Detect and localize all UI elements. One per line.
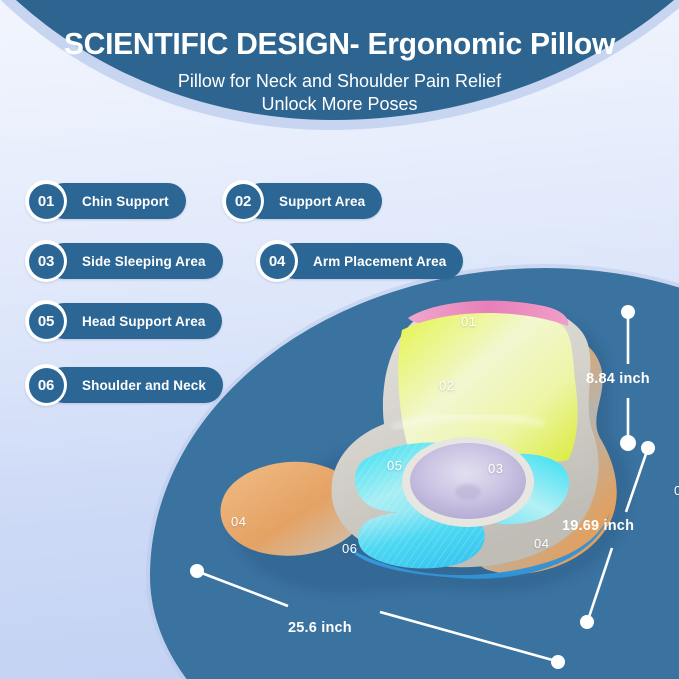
- dim-width-line-left: [199, 572, 288, 606]
- dimension-label-height: 8.84 inch: [586, 371, 650, 387]
- dim-width-endpoint-left: [190, 564, 204, 578]
- dimension-callouts: 8.84 inch 19.69 inch 25.6 inch: [0, 0, 679, 679]
- dim-depth-endpoint-top: [641, 441, 655, 455]
- dim-width-line-right: [380, 612, 556, 661]
- dim-height-endpoint-top: [621, 305, 635, 319]
- dim-width-endpoint-right: [551, 655, 565, 669]
- dim-height-endpoint-bottom: [620, 435, 636, 451]
- dimension-label-depth: 19.69 inch: [562, 518, 634, 534]
- dimension-label-width: 25.6 inch: [288, 620, 352, 636]
- dim-depth-endpoint-bottom: [580, 615, 594, 629]
- infographic-canvas: SCIENTIFIC DESIGN- Ergonomic Pillow Pill…: [0, 0, 679, 679]
- dimension-lines-svg: [0, 0, 679, 679]
- dim-depth-line-bottom: [588, 548, 612, 620]
- dim-depth-line-top: [626, 448, 648, 512]
